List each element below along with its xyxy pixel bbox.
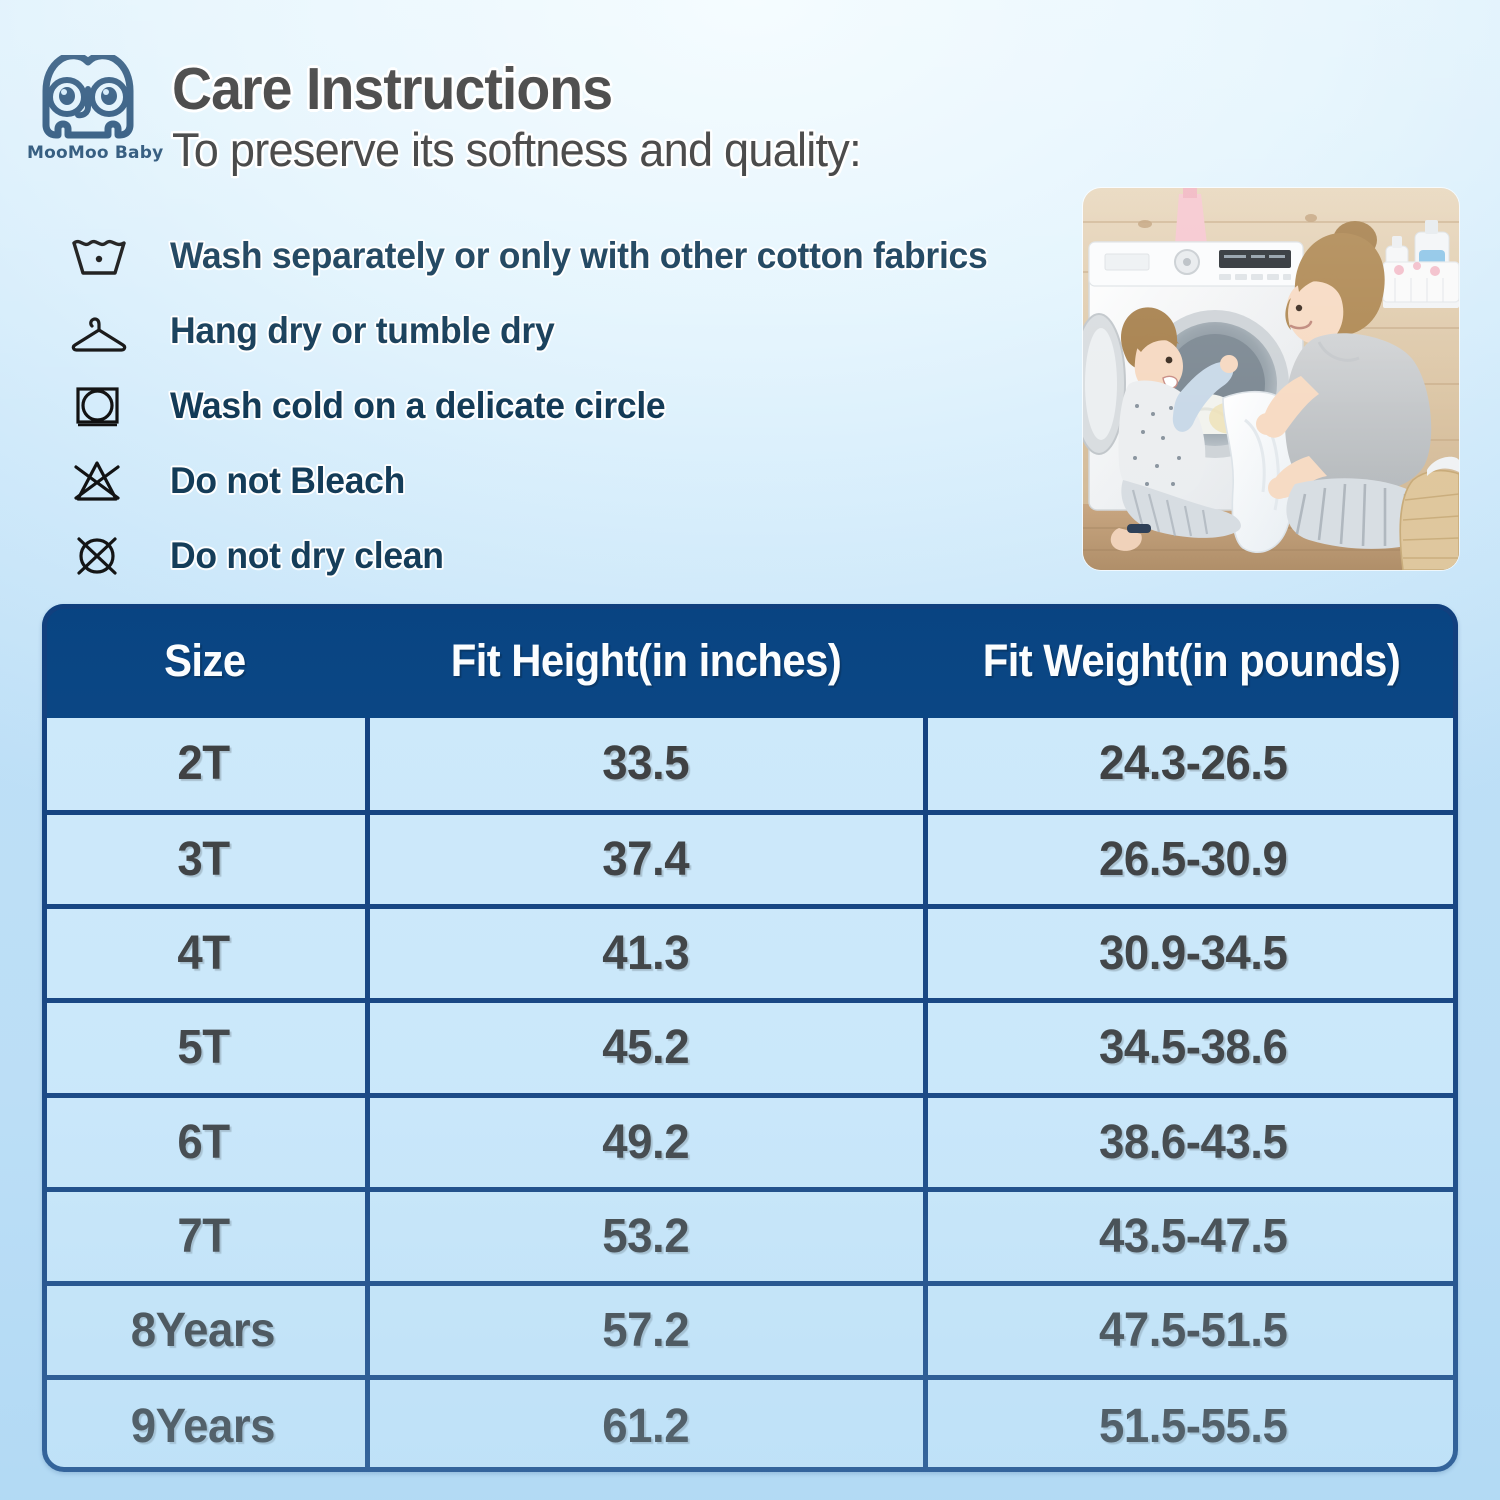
cell-height: 33.5 (367, 718, 925, 812)
page-subtitle: To preserve its softness and quality: (172, 124, 861, 176)
cell-weight: 51.5-55.5 (925, 1378, 1458, 1472)
brand-logo: MooMoo Baby (27, 55, 149, 163)
cell-weight: 26.5-30.9 (925, 812, 1458, 906)
column-header-fit-height: Fit Height(in inches) (367, 604, 925, 718)
hanger-icon (70, 305, 132, 357)
care-row: Hang dry or tumble dry (70, 293, 1080, 368)
cell-weight: 47.5-51.5 (925, 1284, 1458, 1378)
cell-height: 41.3 (367, 907, 925, 1001)
cell-size: 2T (42, 718, 367, 812)
cell-size: 8Years (42, 1284, 367, 1378)
cell-height: 37.4 (367, 812, 925, 906)
column-header-fit-weight: Fit Weight(in pounds) (925, 604, 1458, 718)
page-title: Care Instructions (172, 58, 847, 120)
table-row: 9Years 61.2 51.5-55.5 (42, 1378, 1458, 1472)
laundry-photo-illustration (1083, 188, 1459, 570)
table-header-row: Size Fit Height(in inches) Fit Weight(in… (42, 604, 1458, 718)
laundry-photo (1083, 188, 1459, 570)
cell-weight: 24.3-26.5 (925, 718, 1458, 812)
care-instructions-page: MooMoo Baby Care Instructions To preserv… (0, 0, 1500, 1500)
brand-name: MooMoo Baby (27, 143, 149, 163)
care-label: Hang dry or tumble dry (170, 311, 554, 351)
cell-height: 61.2 (367, 1378, 925, 1472)
care-label: Do not Bleach (170, 461, 405, 501)
care-row: Wash cold on a delicate circle (70, 368, 1080, 443)
cell-size: 5T (42, 1001, 367, 1095)
title-block: Care Instructions To preserve its softne… (172, 58, 890, 176)
table-row: 5T 45.2 34.5-38.6 (42, 1001, 1458, 1095)
cell-size: 9Years (42, 1378, 367, 1472)
cell-size: 6T (42, 1095, 367, 1189)
table-row: 2T 33.5 24.3-26.5 (42, 718, 1458, 812)
table-row: 6T 49.2 38.6-43.5 (42, 1095, 1458, 1189)
wash-tub-icon (70, 230, 132, 282)
care-label: Wash separately or only with other cotto… (170, 236, 987, 276)
table-row: 4T 41.3 30.9-34.5 (42, 907, 1458, 1001)
page-header: MooMoo Baby Care Instructions To preserv… (0, 0, 1500, 190)
cell-size: 3T (42, 812, 367, 906)
cell-height: 45.2 (367, 1001, 925, 1095)
cell-height: 57.2 (367, 1284, 925, 1378)
table-row: 3T 37.4 26.5-30.9 (42, 812, 1458, 906)
cell-height: 49.2 (367, 1095, 925, 1189)
care-label: Wash cold on a delicate circle (170, 386, 665, 426)
tumble-dry-icon (70, 380, 132, 432)
column-header-size: Size (42, 604, 367, 718)
cell-size: 4T (42, 907, 367, 1001)
care-row: Wash separately or only with other cotto… (70, 218, 1080, 293)
cell-weight: 43.5-47.5 (925, 1189, 1458, 1283)
cell-size: 7T (42, 1189, 367, 1283)
owl-logo-icon (36, 55, 140, 141)
table-row: 7T 53.2 43.5-47.5 (42, 1189, 1458, 1283)
care-row: Do not dry clean (70, 518, 1080, 593)
do-not-bleach-icon (70, 455, 132, 507)
cell-weight: 30.9-34.5 (925, 907, 1458, 1001)
size-chart-table: Size Fit Height(in inches) Fit Weight(in… (42, 604, 1458, 1472)
cell-height: 53.2 (367, 1189, 925, 1283)
table-row: 8Years 57.2 47.5-51.5 (42, 1284, 1458, 1378)
cell-weight: 38.6-43.5 (925, 1095, 1458, 1189)
cell-weight: 34.5-38.6 (925, 1001, 1458, 1095)
do-not-dry-clean-icon (70, 530, 132, 582)
care-label: Do not dry clean (170, 536, 444, 576)
care-row: Do not Bleach (70, 443, 1080, 518)
care-instruction-list: Wash separately or only with other cotto… (70, 218, 1080, 593)
